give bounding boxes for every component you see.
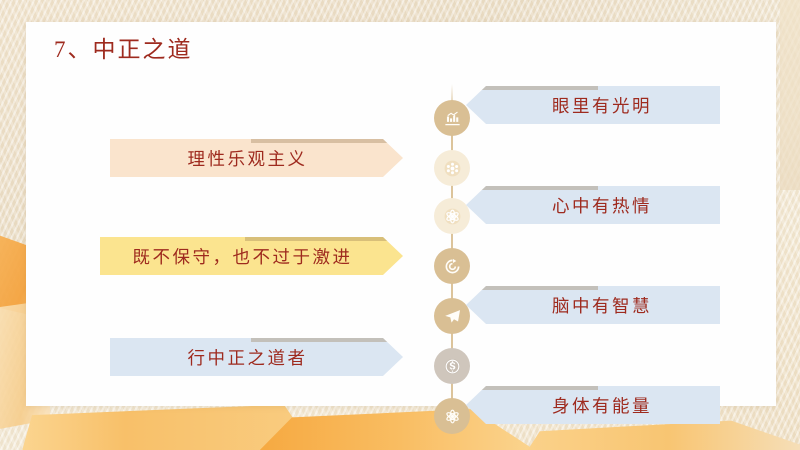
- timeline-node-target[interactable]: [434, 248, 470, 284]
- right-banner-2[interactable]: 心中有热情: [466, 186, 720, 224]
- timeline-node-growth-chart[interactable]: [434, 100, 470, 136]
- timeline-node-paper-plane[interactable]: [434, 298, 470, 334]
- target-icon: [443, 257, 462, 276]
- paper-plane-icon: [443, 307, 462, 326]
- decor-facet-bottom-left: [20, 400, 320, 450]
- right-banner-3-label: 脑中有智慧: [552, 293, 652, 318]
- page-title: 7、中正之道: [54, 30, 193, 64]
- timeline-node-atom-1[interactable]: [434, 198, 470, 234]
- banner-bevel: [466, 86, 598, 90]
- right-banner-2-label: 心中有热情: [552, 193, 652, 218]
- timeline-node-flower-dots[interactable]: [434, 150, 470, 186]
- flower-dots-icon: [443, 159, 462, 178]
- right-banner-4-label: 身体有能量: [552, 393, 652, 418]
- atom-icon: [443, 207, 462, 226]
- dollar-icon: [443, 357, 462, 376]
- right-banner-3[interactable]: 脑中有智慧: [466, 286, 720, 324]
- timeline-node-atom-2[interactable]: [434, 398, 470, 434]
- left-banner-2-label: 既不保守，也不过于激进: [133, 244, 353, 269]
- banner-bevel: [251, 338, 403, 342]
- slide-canvas: 7、中正之道: [0, 0, 800, 450]
- decor-facet-right-edge: [780, 0, 800, 190]
- left-banner-1-label: 理性乐观主义: [188, 146, 308, 171]
- right-banner-1-label: 眼里有光明: [552, 93, 652, 118]
- banner-bevel: [251, 139, 403, 143]
- left-banner-2[interactable]: 既不保守，也不过于激进: [100, 237, 403, 275]
- timeline-node-dollar[interactable]: [434, 348, 470, 384]
- left-banner-3-label: 行中正之道者: [188, 345, 308, 370]
- slide-content-card: 7、中正之道: [26, 22, 776, 406]
- banner-bevel: [245, 237, 403, 241]
- atom-icon: [443, 407, 462, 426]
- left-banner-1[interactable]: 理性乐观主义: [110, 139, 403, 177]
- left-banner-3[interactable]: 行中正之道者: [110, 338, 403, 376]
- banner-bevel: [466, 186, 598, 190]
- right-banner-1[interactable]: 眼里有光明: [466, 86, 720, 124]
- right-banner-4[interactable]: 身体有能量: [466, 386, 720, 424]
- banner-bevel: [466, 286, 598, 290]
- growth-chart-icon: [443, 109, 462, 128]
- banner-bevel: [466, 386, 598, 390]
